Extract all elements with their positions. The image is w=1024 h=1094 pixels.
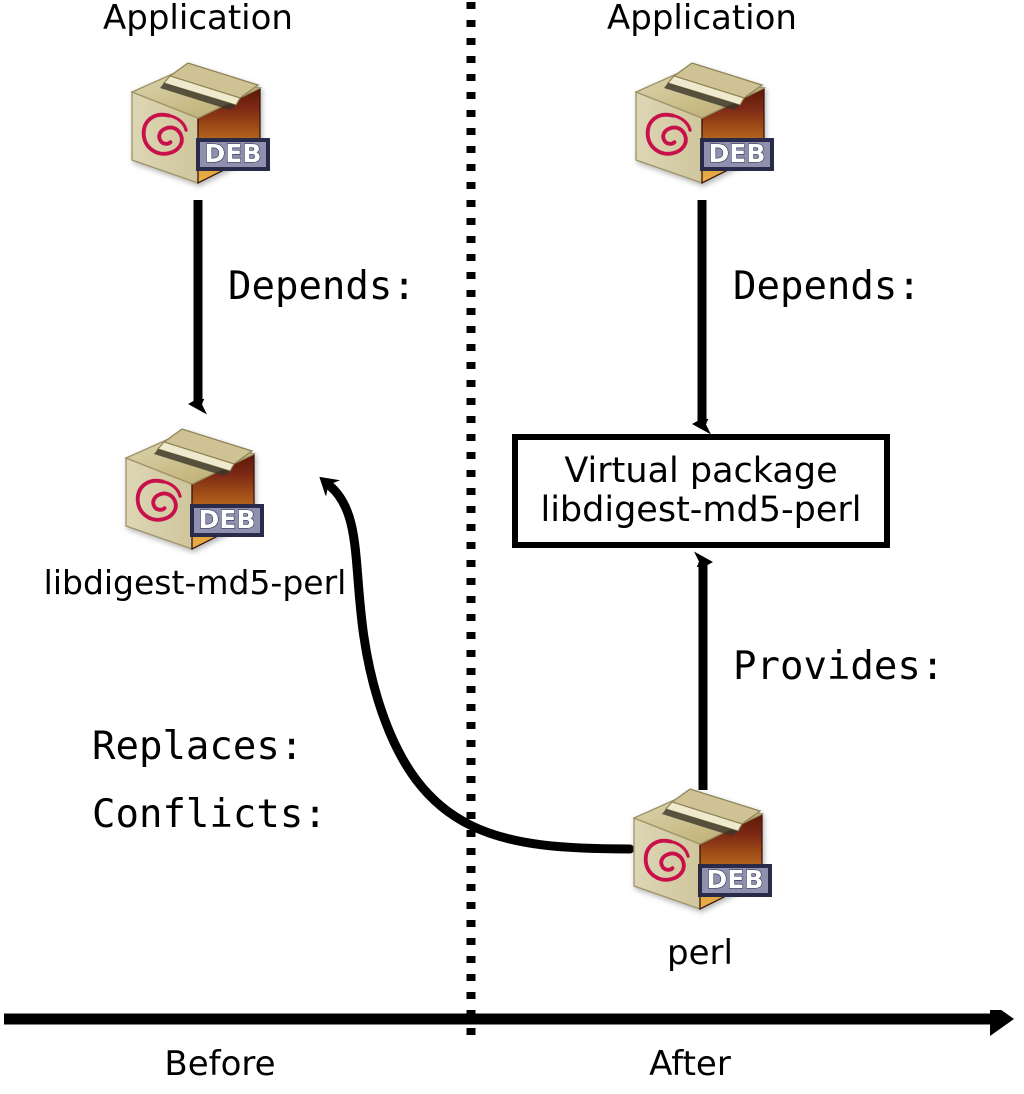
conflicts-label: Conflicts: [92,793,327,837]
after-application-label: Application [552,0,852,37]
depends-label-before: Depends: [228,265,416,309]
libdigest-md5-perl-label: libdigest-md5-perl [10,565,380,601]
virtual-package-line-2: libdigest-md5-perl [540,491,861,530]
before-application-package-icon [118,52,278,192]
timeline-after-label: After [560,1046,820,1083]
after-application-package-icon [622,52,782,192]
depends-label-after: Depends: [733,265,921,309]
replaces-label: Replaces: [92,725,303,769]
provides-label: Provides: [733,645,944,689]
before-application-label: Application [48,0,348,37]
perl-package-icon [620,778,780,918]
diagram-canvas: DEB [0,0,1024,1094]
perl-label: perl [600,935,800,972]
virtual-package-box: Virtual package libdigest-md5-perl [512,434,890,548]
virtual-package-line-1: Virtual package [564,452,837,491]
before-libdigest-package-icon [112,418,272,558]
timeline-before-label: Before [90,1046,350,1083]
